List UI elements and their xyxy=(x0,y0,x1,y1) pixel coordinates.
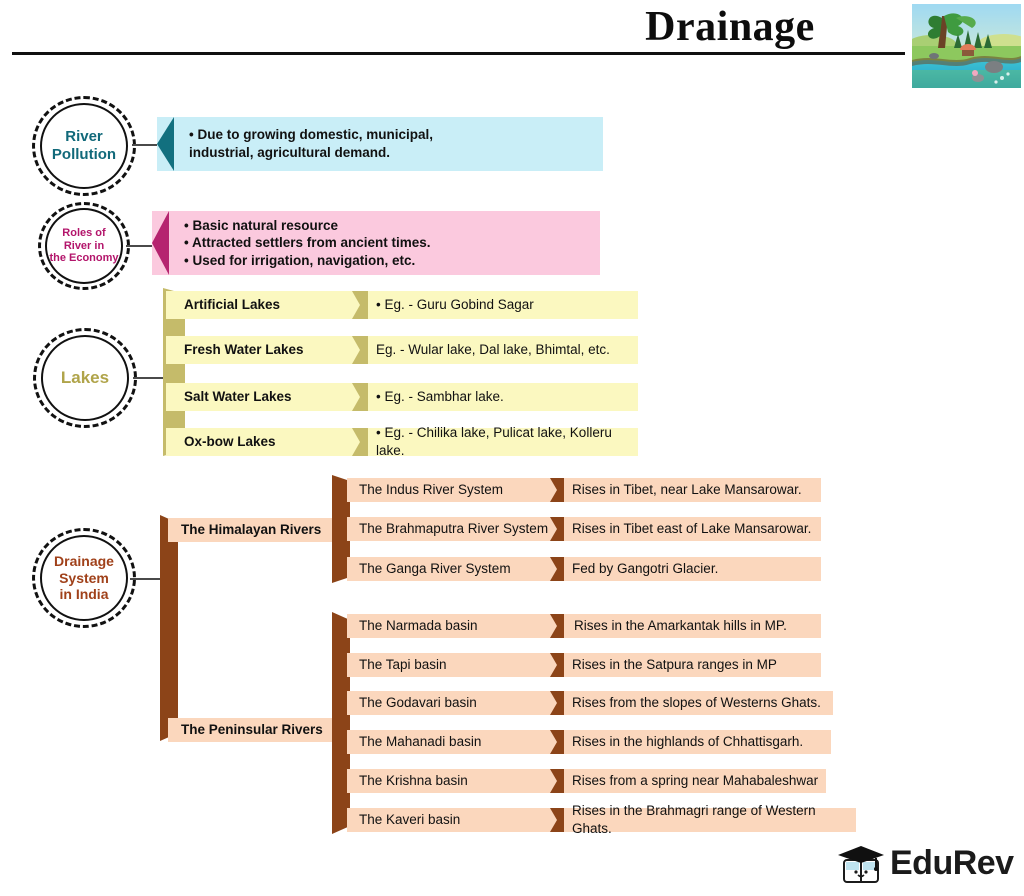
bar-group-label-peninsular: The Peninsular Rivers xyxy=(168,718,346,742)
bar-lakes-label: Ox-bow Lakes xyxy=(166,428,352,456)
bar-river-detail: Rises in Tibet east of Lake Mansarowar. xyxy=(550,517,821,541)
bar-text: Rises in Tibet, near Lake Mansarowar. xyxy=(572,481,802,499)
bar-text: Ox-bow Lakes xyxy=(184,433,276,451)
connector-lakes xyxy=(133,377,165,379)
bar-river-name: The Narmada basin xyxy=(347,614,554,638)
bar-text: Artificial Lakes xyxy=(184,296,280,314)
bar-river-detail: Fed by Gangotri Glacier. xyxy=(550,557,821,581)
bar-river-name: The Kaveri basin xyxy=(347,808,554,832)
arrow-marker xyxy=(550,730,564,754)
node-label: Roles of River in the Economy xyxy=(49,227,118,266)
node-inner-circle: Lakes xyxy=(41,335,129,421)
bar-river-name: The Ganga River System xyxy=(347,557,554,581)
arrow-marker xyxy=(550,517,564,541)
bar-text: Rises in the Brahmagri range of Western … xyxy=(572,802,856,837)
bar-river-pollution: • Due to growing domestic, municipal, in… xyxy=(157,117,603,171)
node-drainage-system[interactable]: Drainage System in India xyxy=(32,528,136,628)
bar-text: The Indus River System xyxy=(359,481,503,499)
bar-text: The Godavari basin xyxy=(359,694,477,712)
bar-text: The Mahanadi basin xyxy=(359,733,481,751)
arrow-marker xyxy=(352,291,368,319)
bar-text: • Basic natural resource • Attracted set… xyxy=(184,217,431,270)
arrow-marker xyxy=(550,557,564,581)
arrow-marker xyxy=(550,691,564,715)
arrow-marker xyxy=(550,478,564,502)
bar-lakes-label: Fresh Water Lakes xyxy=(166,336,352,364)
node-label: River Pollution xyxy=(52,128,116,163)
bar-text: • Eg. - Guru Gobind Sagar xyxy=(376,296,534,314)
connector-drainage-system xyxy=(130,578,162,580)
arrow-marker xyxy=(550,653,564,677)
bar-text: • Eg. - Sambhar lake. xyxy=(376,388,504,406)
bar-river-detail: Rises in Tibet, near Lake Mansarowar. xyxy=(550,478,821,502)
bar-river-name: The Mahanadi basin xyxy=(347,730,554,754)
bar-text: Fresh Water Lakes xyxy=(184,341,304,359)
bar-text: The Krishna basin xyxy=(359,772,468,790)
page-title: Drainage xyxy=(560,2,900,52)
bar-text: The Brahmaputra River System xyxy=(359,520,548,538)
bar-lakes-detail: Eg. - Wular lake, Dal lake, Bhimtal, etc… xyxy=(352,336,638,364)
bar-text: The Tapi basin xyxy=(359,656,447,674)
node-inner-circle: River Pollution xyxy=(40,103,128,189)
arrow-marker xyxy=(352,336,368,364)
bar-lakes-label: Salt Water Lakes xyxy=(166,383,352,411)
arrow-marker xyxy=(550,808,564,832)
arrow-marker xyxy=(550,769,564,793)
bar-text: Fed by Gangotri Glacier. xyxy=(572,560,718,578)
edurev-logo[interactable]: EduRev xyxy=(838,842,1020,892)
bar-lakes-detail: • Eg. - Sambhar lake. xyxy=(352,383,638,411)
bar-river-detail: Rises from the slopes of Westerns Ghats. xyxy=(550,691,833,715)
bar-text: Rises in the Amarkantak hills in MP. xyxy=(574,617,787,635)
bar-text: Rises in the highlands of Chhattisgarh. xyxy=(572,733,803,751)
header-divider xyxy=(12,52,905,55)
brand-name: EduRev xyxy=(890,844,1014,883)
arrow-marker xyxy=(550,614,564,638)
river-landscape-thumbnail xyxy=(912,4,1021,88)
bar-roles-of-river: • Basic natural resource • Attracted set… xyxy=(152,211,600,275)
bar-river-detail: Rises in the Brahmagri range of Western … xyxy=(550,808,856,832)
arrow-marker xyxy=(157,117,174,171)
graduation-cap-book-icon xyxy=(838,842,888,888)
bar-text: The Kaveri basin xyxy=(359,811,460,829)
bar-group-label-himalayan: The Himalayan Rivers xyxy=(168,518,346,542)
bar-text: Rises from the slopes of Westerns Ghats. xyxy=(572,694,821,712)
trunk-peninsular-rows xyxy=(332,612,350,834)
bar-text: • Eg. - Chilika lake, Pulicat lake, Koll… xyxy=(376,424,638,459)
infographic-canvas: Drainage xyxy=(0,0,1024,896)
bar-text: The Narmada basin xyxy=(359,617,478,635)
arrow-marker xyxy=(352,428,368,456)
bar-text: Eg. - Wular lake, Dal lake, Bhimtal, etc… xyxy=(376,341,610,359)
node-lakes[interactable]: Lakes xyxy=(33,328,137,428)
bar-text: • Due to growing domestic, municipal, in… xyxy=(189,126,433,161)
bar-lakes-label: Artificial Lakes xyxy=(166,291,352,319)
bar-text: Rises from a spring near Mahabaleshwar xyxy=(572,772,818,790)
node-inner-circle: Roles of River in the Economy xyxy=(45,208,123,284)
bar-river-detail: Rises in the Amarkantak hills in MP. xyxy=(550,614,821,638)
bar-river-name: The Tapi basin xyxy=(347,653,554,677)
bar-text: Rises in Tibet east of Lake Mansarowar. xyxy=(572,520,811,538)
bar-river-detail: Rises in the Satpura ranges in MP xyxy=(550,653,821,677)
node-label: Drainage System in India xyxy=(54,553,114,603)
bar-river-name: The Godavari basin xyxy=(347,691,554,715)
arrow-marker xyxy=(152,211,169,275)
bar-lakes-detail: • Eg. - Chilika lake, Pulicat lake, Koll… xyxy=(352,428,638,456)
bar-river-name: The Krishna basin xyxy=(347,769,554,793)
trunk-drainage-main xyxy=(160,515,178,741)
bar-text: The Peninsular Rivers xyxy=(181,721,323,739)
node-inner-circle: Drainage System in India xyxy=(40,535,128,621)
node-river-pollution[interactable]: River Pollution xyxy=(32,96,136,196)
bar-river-detail: Rises from a spring near Mahabaleshwar xyxy=(550,769,826,793)
bar-text: Salt Water Lakes xyxy=(184,388,292,406)
bar-river-name: The Indus River System xyxy=(347,478,554,502)
bar-text: Rises in the Satpura ranges in MP xyxy=(572,656,777,674)
bar-lakes-detail: • Eg. - Guru Gobind Sagar xyxy=(352,291,638,319)
node-roles-of-river[interactable]: Roles of River in the Economy xyxy=(38,202,130,290)
node-label: Lakes xyxy=(61,368,109,388)
arrow-marker xyxy=(352,383,368,411)
bar-river-detail: Rises in the highlands of Chhattisgarh. xyxy=(550,730,831,754)
bar-text: The Himalayan Rivers xyxy=(181,521,321,539)
bar-text: The Ganga River System xyxy=(359,560,511,578)
bar-river-name: The Brahmaputra River System xyxy=(347,517,554,541)
